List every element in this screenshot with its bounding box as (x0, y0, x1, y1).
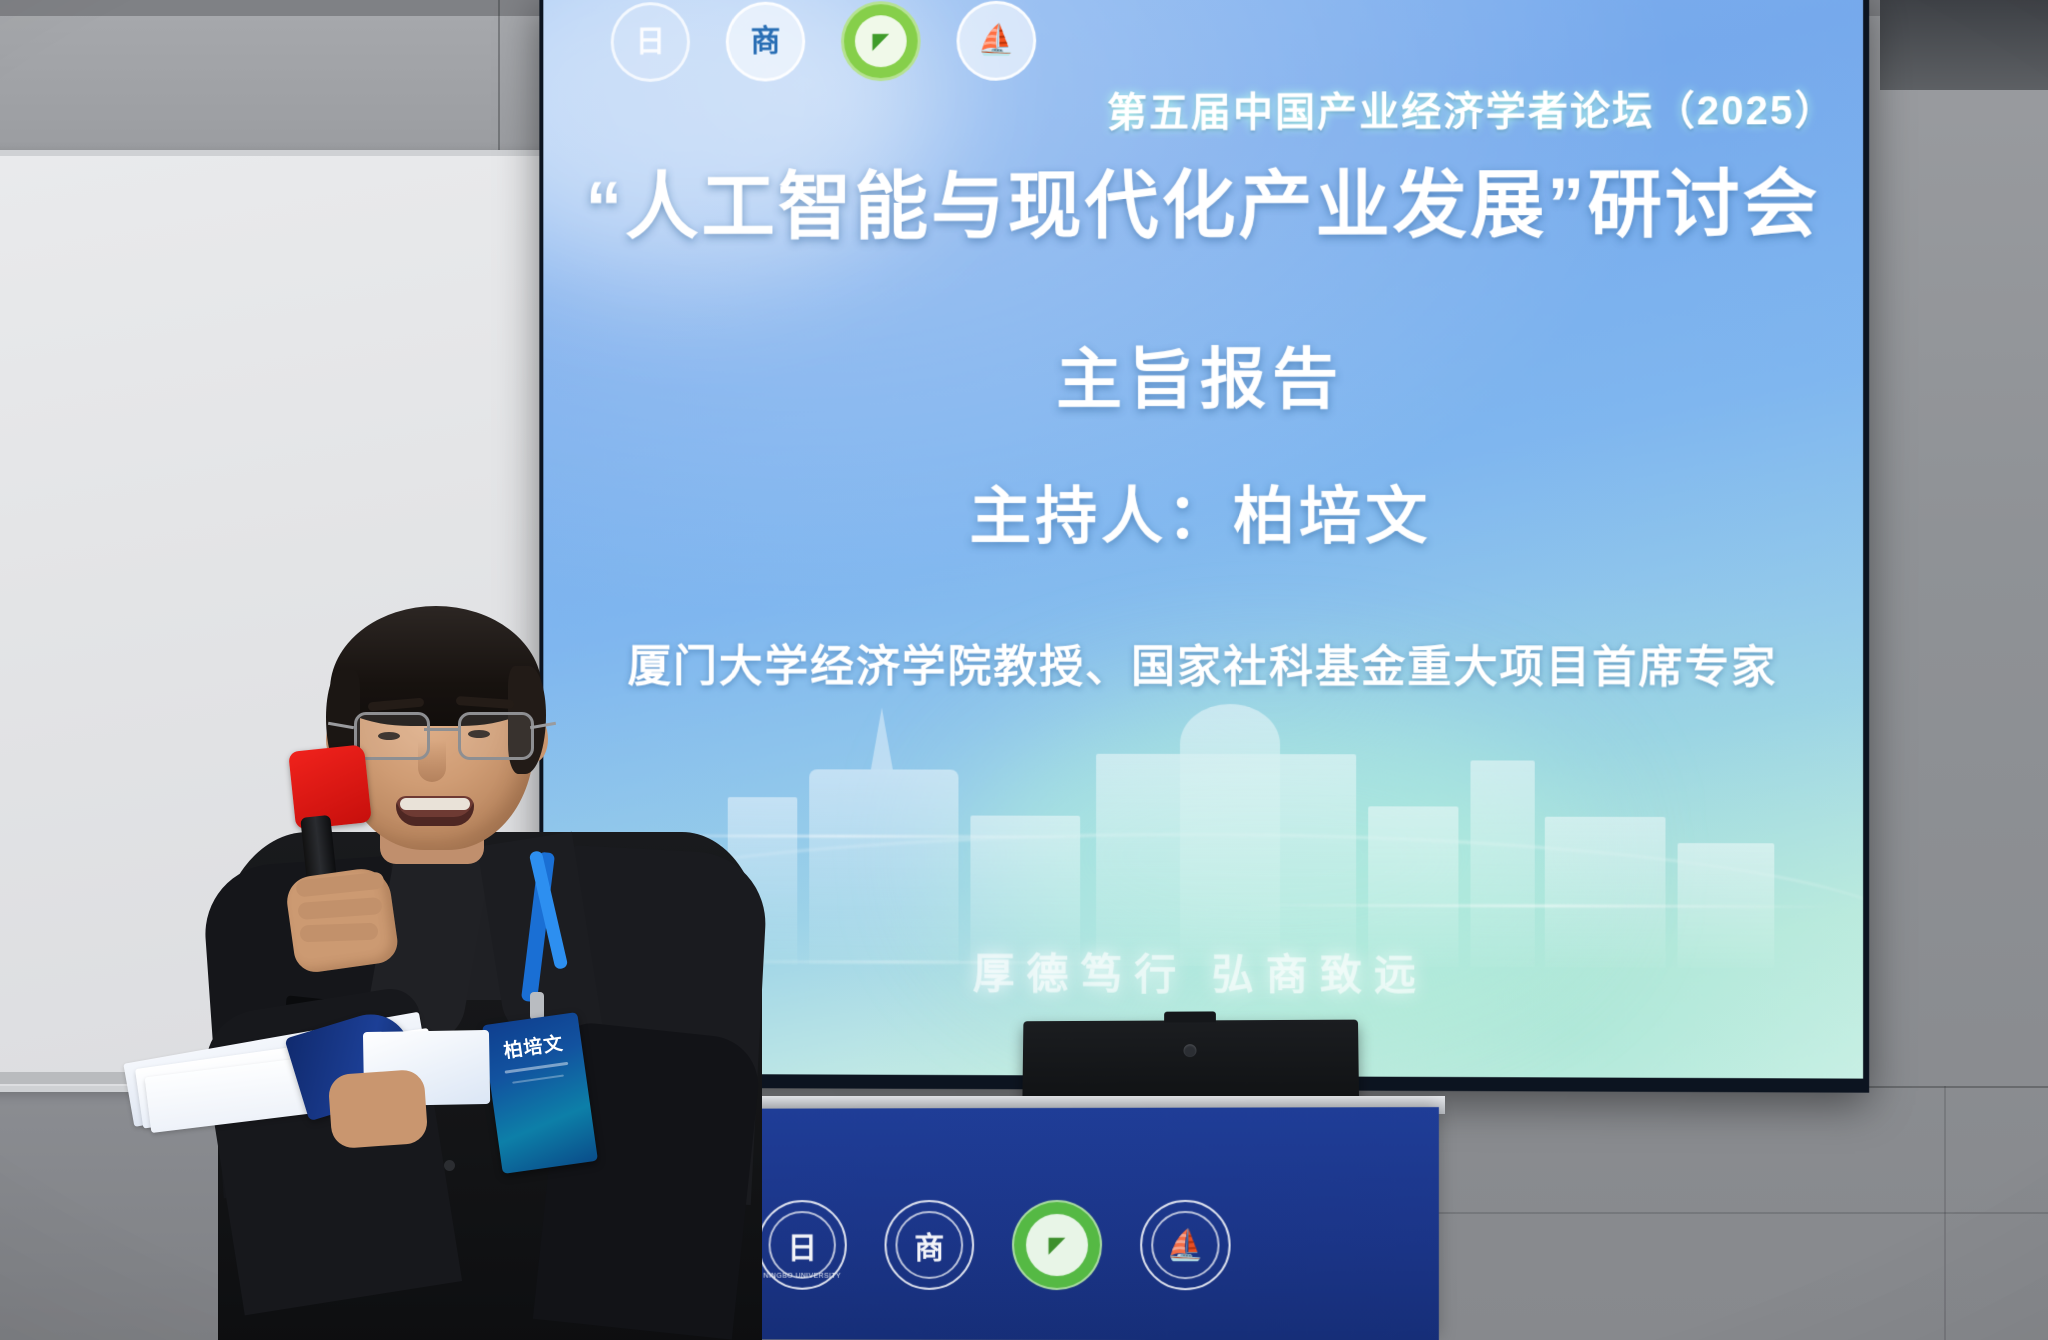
slide-forum-name: 第五届中国产业经济学者论坛（2025） (1107, 78, 1837, 138)
logo-glyph: 商 (751, 27, 781, 57)
maritime-institute-logo: ⛵ (1140, 1200, 1230, 1290)
business-school-logo: 商 (885, 1200, 975, 1290)
jacket-button (444, 1160, 455, 1171)
lanyard-clip (530, 992, 544, 1020)
green-institute-logo: ◤ (841, 1, 921, 81)
logo-glyph: 日 (635, 27, 665, 57)
laptop-camera-icon (1184, 1044, 1197, 1057)
slide-title: “人工智能与现代化产业发展”研讨会 (543, 144, 1863, 254)
hand-holding-booklet (328, 1069, 429, 1150)
ningbo-university-logo: 日 (611, 2, 690, 82)
podium-logo-row: 日 NINGBO UNIVERSITY 商 ◤ ⛵ (758, 1200, 1231, 1290)
finger (300, 923, 379, 943)
badge-divider (505, 1062, 569, 1074)
logo-glyph: ◤ (872, 30, 889, 52)
wall-seam-right (1944, 1086, 1946, 1340)
conference-photo: 日 商 ◤ ⛵ 第五届中国产业经济学者论坛（2025） “人工智能与现代化产业发… (0, 0, 2048, 1340)
logo-glyph: 商 (914, 1223, 944, 1267)
lens-right (458, 712, 534, 760)
ningbo-university-logo: 日 NINGBO UNIVERSITY (758, 1200, 847, 1290)
slide-session-type: 主旨报告 (543, 325, 1863, 423)
business-school-logo: 商 (726, 2, 805, 82)
name-badge: 柏培文 (482, 1012, 598, 1174)
logo-glyph: ⛵ (1167, 1228, 1205, 1263)
slide-logo-row: 日 商 ◤ ⛵ (611, 1, 1037, 82)
logo-glyph: ⛵ (978, 26, 1015, 56)
logo-caption: NINGBO UNIVERSITY (760, 1273, 845, 1280)
logo-glyph: ◤ (1049, 1232, 1066, 1258)
ceiling-strip (1880, 0, 2048, 90)
green-institute-logo: ◤ (1012, 1200, 1102, 1290)
logo-glyph: 日 (787, 1223, 817, 1267)
microphone-assembly (230, 660, 430, 980)
microphone-windscreen (288, 744, 372, 830)
slide-moderator: 主持人：柏培文 (543, 466, 1863, 556)
badge-divider (512, 1075, 564, 1084)
maritime-institute-logo: ⛵ (956, 1, 1036, 81)
laptop-notch (1164, 1011, 1216, 1022)
wall-panel-upper-left (0, 0, 600, 150)
badge-name: 柏培文 (484, 1026, 583, 1066)
